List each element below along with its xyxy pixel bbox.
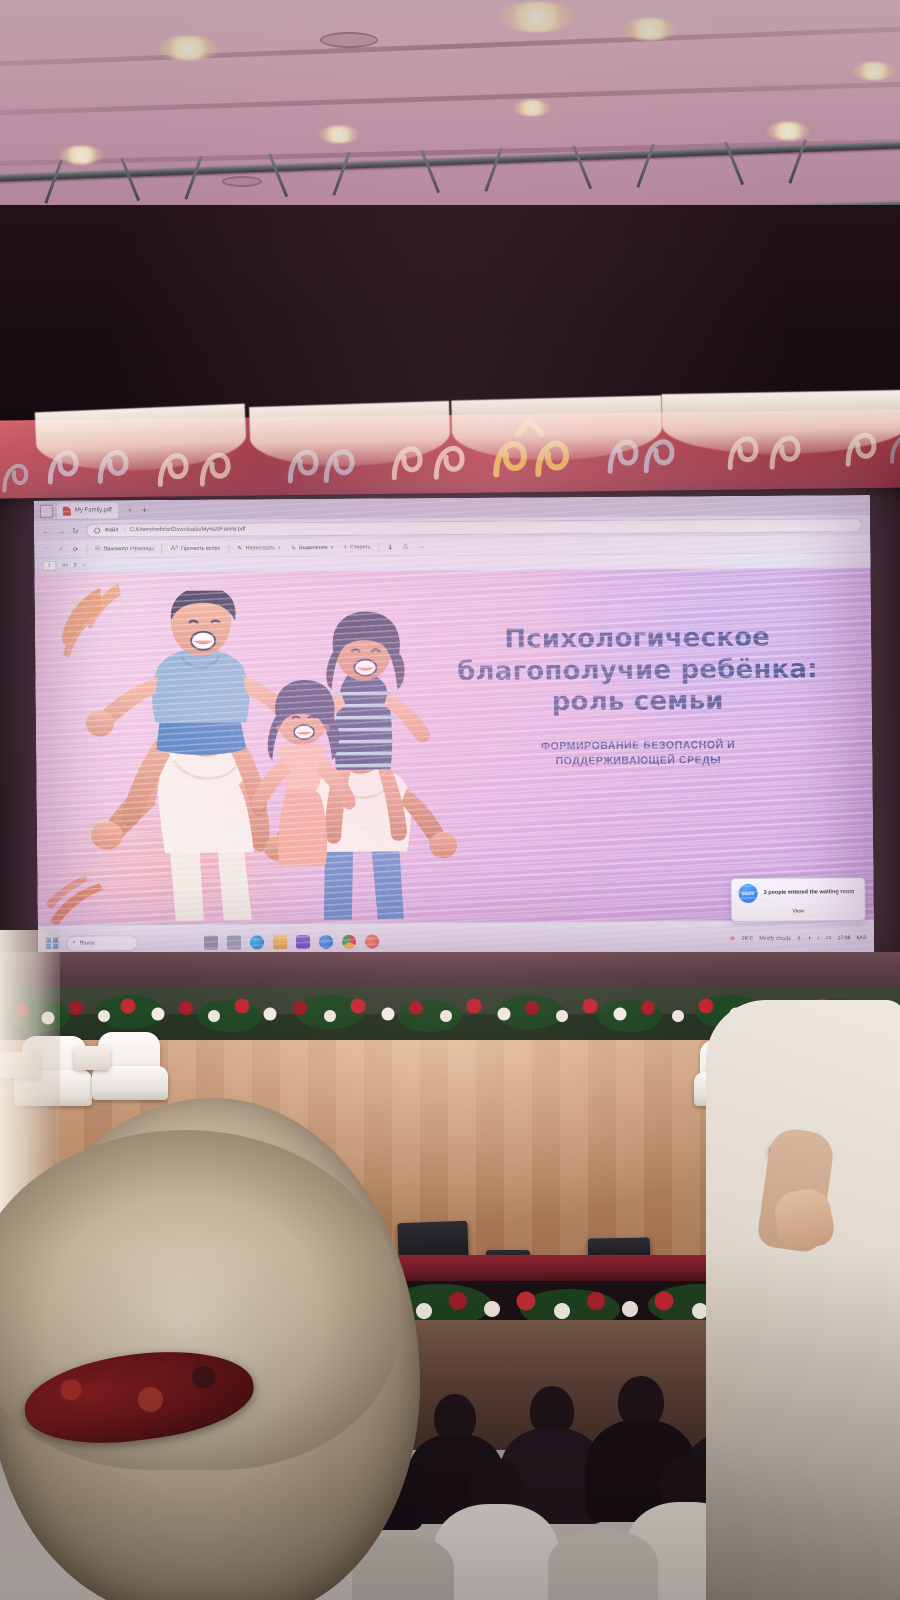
led-screen: My Family.pdf × + ← → ↻ Файл | C:/Users/…	[34, 495, 874, 961]
new-tab-icon[interactable]: +	[142, 505, 147, 515]
close-icon[interactable]: ×	[128, 507, 132, 514]
search-placeholder-label: Поиск	[80, 940, 95, 946]
slide-title: Психологическое благополучие ребёнка: ро…	[427, 622, 848, 720]
read-aloud-icon: Aᴬ	[171, 545, 178, 552]
taskbar-icon-telegram[interactable]	[365, 934, 379, 948]
reload-icon[interactable]: ↻	[72, 526, 79, 535]
system-tray: ☀ 26°C Mostly cloudy ∧ ◑ ♪ ▭ 17:08 ҚАЗ	[729, 934, 866, 943]
zoom-notification-toast[interactable]: zoom 3 people entered the waiting room V…	[730, 877, 865, 922]
taskbar-icon-store[interactable]	[296, 935, 310, 949]
taskbar-icon-explorer[interactable]	[273, 935, 287, 949]
more-options-icon[interactable]: ⋯	[413, 543, 430, 551]
page-total-label: 8	[74, 563, 77, 569]
slide-subtitle: ФОРМИРОВАНИЕ БЕЗОПАСНОЙ И ПОДДЕРЖИВАЮЩЕЙ…	[428, 737, 848, 770]
rotate-icon[interactable]: ⟳	[68, 545, 84, 553]
clock-time[interactable]: 17:08	[837, 935, 850, 941]
weather-desc[interactable]: Mostly cloudy	[759, 935, 790, 941]
search-icon[interactable]: ⌕	[83, 562, 87, 570]
family-illustration	[55, 589, 458, 922]
desktop-screen: My Family.pdf × + ← → ↻ Файл | C:/Users/…	[34, 495, 874, 961]
audience-body	[548, 1530, 658, 1600]
draw-button[interactable]: ✎ Нарисовать ▾	[232, 544, 286, 552]
file-icon	[94, 527, 100, 533]
taskbar-icon-widgets[interactable]	[227, 935, 241, 949]
read-aloud-button[interactable]: Aᴬ Прочесть вслух	[166, 545, 225, 552]
weather-icon: ☀	[729, 935, 735, 943]
slide-title-line-1: Психологическое	[427, 622, 847, 657]
weather-temp[interactable]: 26°C	[742, 935, 754, 941]
print-icon[interactable]: ⎙	[398, 543, 413, 551]
page-view-button[interactable]: ⎘ Просмотр страницы	[90, 545, 159, 553]
url-input[interactable]: Файл | C:/Users/redstar/Downloads/My%20F…	[86, 518, 862, 537]
tab-title: My Family.pdf	[75, 507, 112, 513]
highlight-button[interactable]: ✎ Выделение ▾	[286, 543, 339, 551]
network-icon[interactable]: ◑	[807, 935, 811, 941]
page-view-label: Просмотр страницы	[103, 546, 153, 552]
ceiling-light	[157, 36, 219, 60]
notification-view-button[interactable]: View	[784, 908, 812, 916]
page-view-icon: ⎘	[95, 545, 100, 553]
zoom-logo-icon: zoom	[739, 884, 758, 903]
chevron-down-icon[interactable]: ▾	[331, 544, 334, 550]
slide-text-block: Психологическое благополучие ребёнка: ро…	[427, 622, 848, 771]
search-icon: ⌕	[73, 940, 76, 947]
ceiling-light	[852, 62, 896, 80]
taskbar-icon-chrome[interactable]	[342, 934, 356, 948]
notification-message: 3 people entered the waiting room	[764, 889, 855, 896]
page-separator-label: из	[62, 563, 67, 569]
volume-icon[interactable]: ♪	[817, 935, 820, 941]
white-lounge-chair	[92, 1066, 168, 1100]
pdf-slide-page: Психологическое благополучие ребёнка: ро…	[35, 568, 874, 925]
taskbar-search-input[interactable]: ⌕ Поиск	[66, 935, 138, 952]
side-table	[74, 1046, 110, 1070]
url-scheme-label: Файл	[105, 527, 119, 533]
chevron-up-icon[interactable]: ∧	[797, 935, 801, 942]
taskbar-app-icons	[204, 934, 379, 949]
battery-icon[interactable]: ▭	[826, 934, 832, 941]
forward-icon[interactable]: →	[57, 526, 65, 535]
slide-subtitle-line-2: ПОДДЕРЖИВАЮЩЕЙ СРЕДЫ	[428, 753, 848, 771]
pdf-icon	[63, 506, 71, 515]
read-aloud-label: Прочесть вслух	[181, 545, 220, 551]
erase-button[interactable]: ⌽ Стереть	[338, 543, 375, 551]
eraser-icon: ⌽	[343, 543, 347, 551]
ceiling-vent	[320, 32, 378, 48]
slide-title-line-3: роль семьи	[428, 686, 848, 721]
taskbar-icon-zoom[interactable]	[319, 934, 333, 948]
foreground-standing-person	[706, 1000, 900, 1600]
url-text: C:/Users/redstar/Downloads/My%20Family.p…	[130, 526, 246, 533]
ceiling-light	[512, 100, 552, 116]
pen-icon: ✎	[237, 544, 243, 552]
page-number-input[interactable]: 1	[42, 561, 56, 571]
back-icon[interactable]: ←	[42, 526, 50, 535]
edge-browser-window: My Family.pdf × + ← → ↻ Файл | C:/Users/…	[34, 495, 874, 925]
draw-label: Нарисовать	[246, 545, 276, 551]
erase-label: Стереть	[350, 544, 370, 550]
tab-actions-icon[interactable]	[40, 504, 53, 517]
chevron-down-icon[interactable]: ▾	[278, 545, 281, 551]
zoom-in-icon[interactable]: +	[54, 546, 68, 553]
taskbar-icon-task-view[interactable]	[204, 935, 218, 949]
zoom-out-icon[interactable]: −	[40, 546, 54, 553]
browser-tab[interactable]: My Family.pdf	[57, 502, 118, 518]
photo-scene: My Family.pdf × + ← → ↻ Файл | C:/Users/…	[0, 0, 900, 1600]
ceiling-light	[498, 2, 576, 32]
highlighter-icon: ✎	[291, 544, 297, 552]
save-icon[interactable]: ⬇	[383, 543, 399, 551]
highlight-label: Выделение	[299, 544, 328, 550]
language-indicator[interactable]: ҚАЗ	[856, 935, 866, 941]
ceiling-light	[622, 18, 678, 40]
taskbar-icon-edge[interactable]	[250, 935, 264, 949]
slide-title-line-2: благополучие ребёнка:	[427, 654, 847, 689]
